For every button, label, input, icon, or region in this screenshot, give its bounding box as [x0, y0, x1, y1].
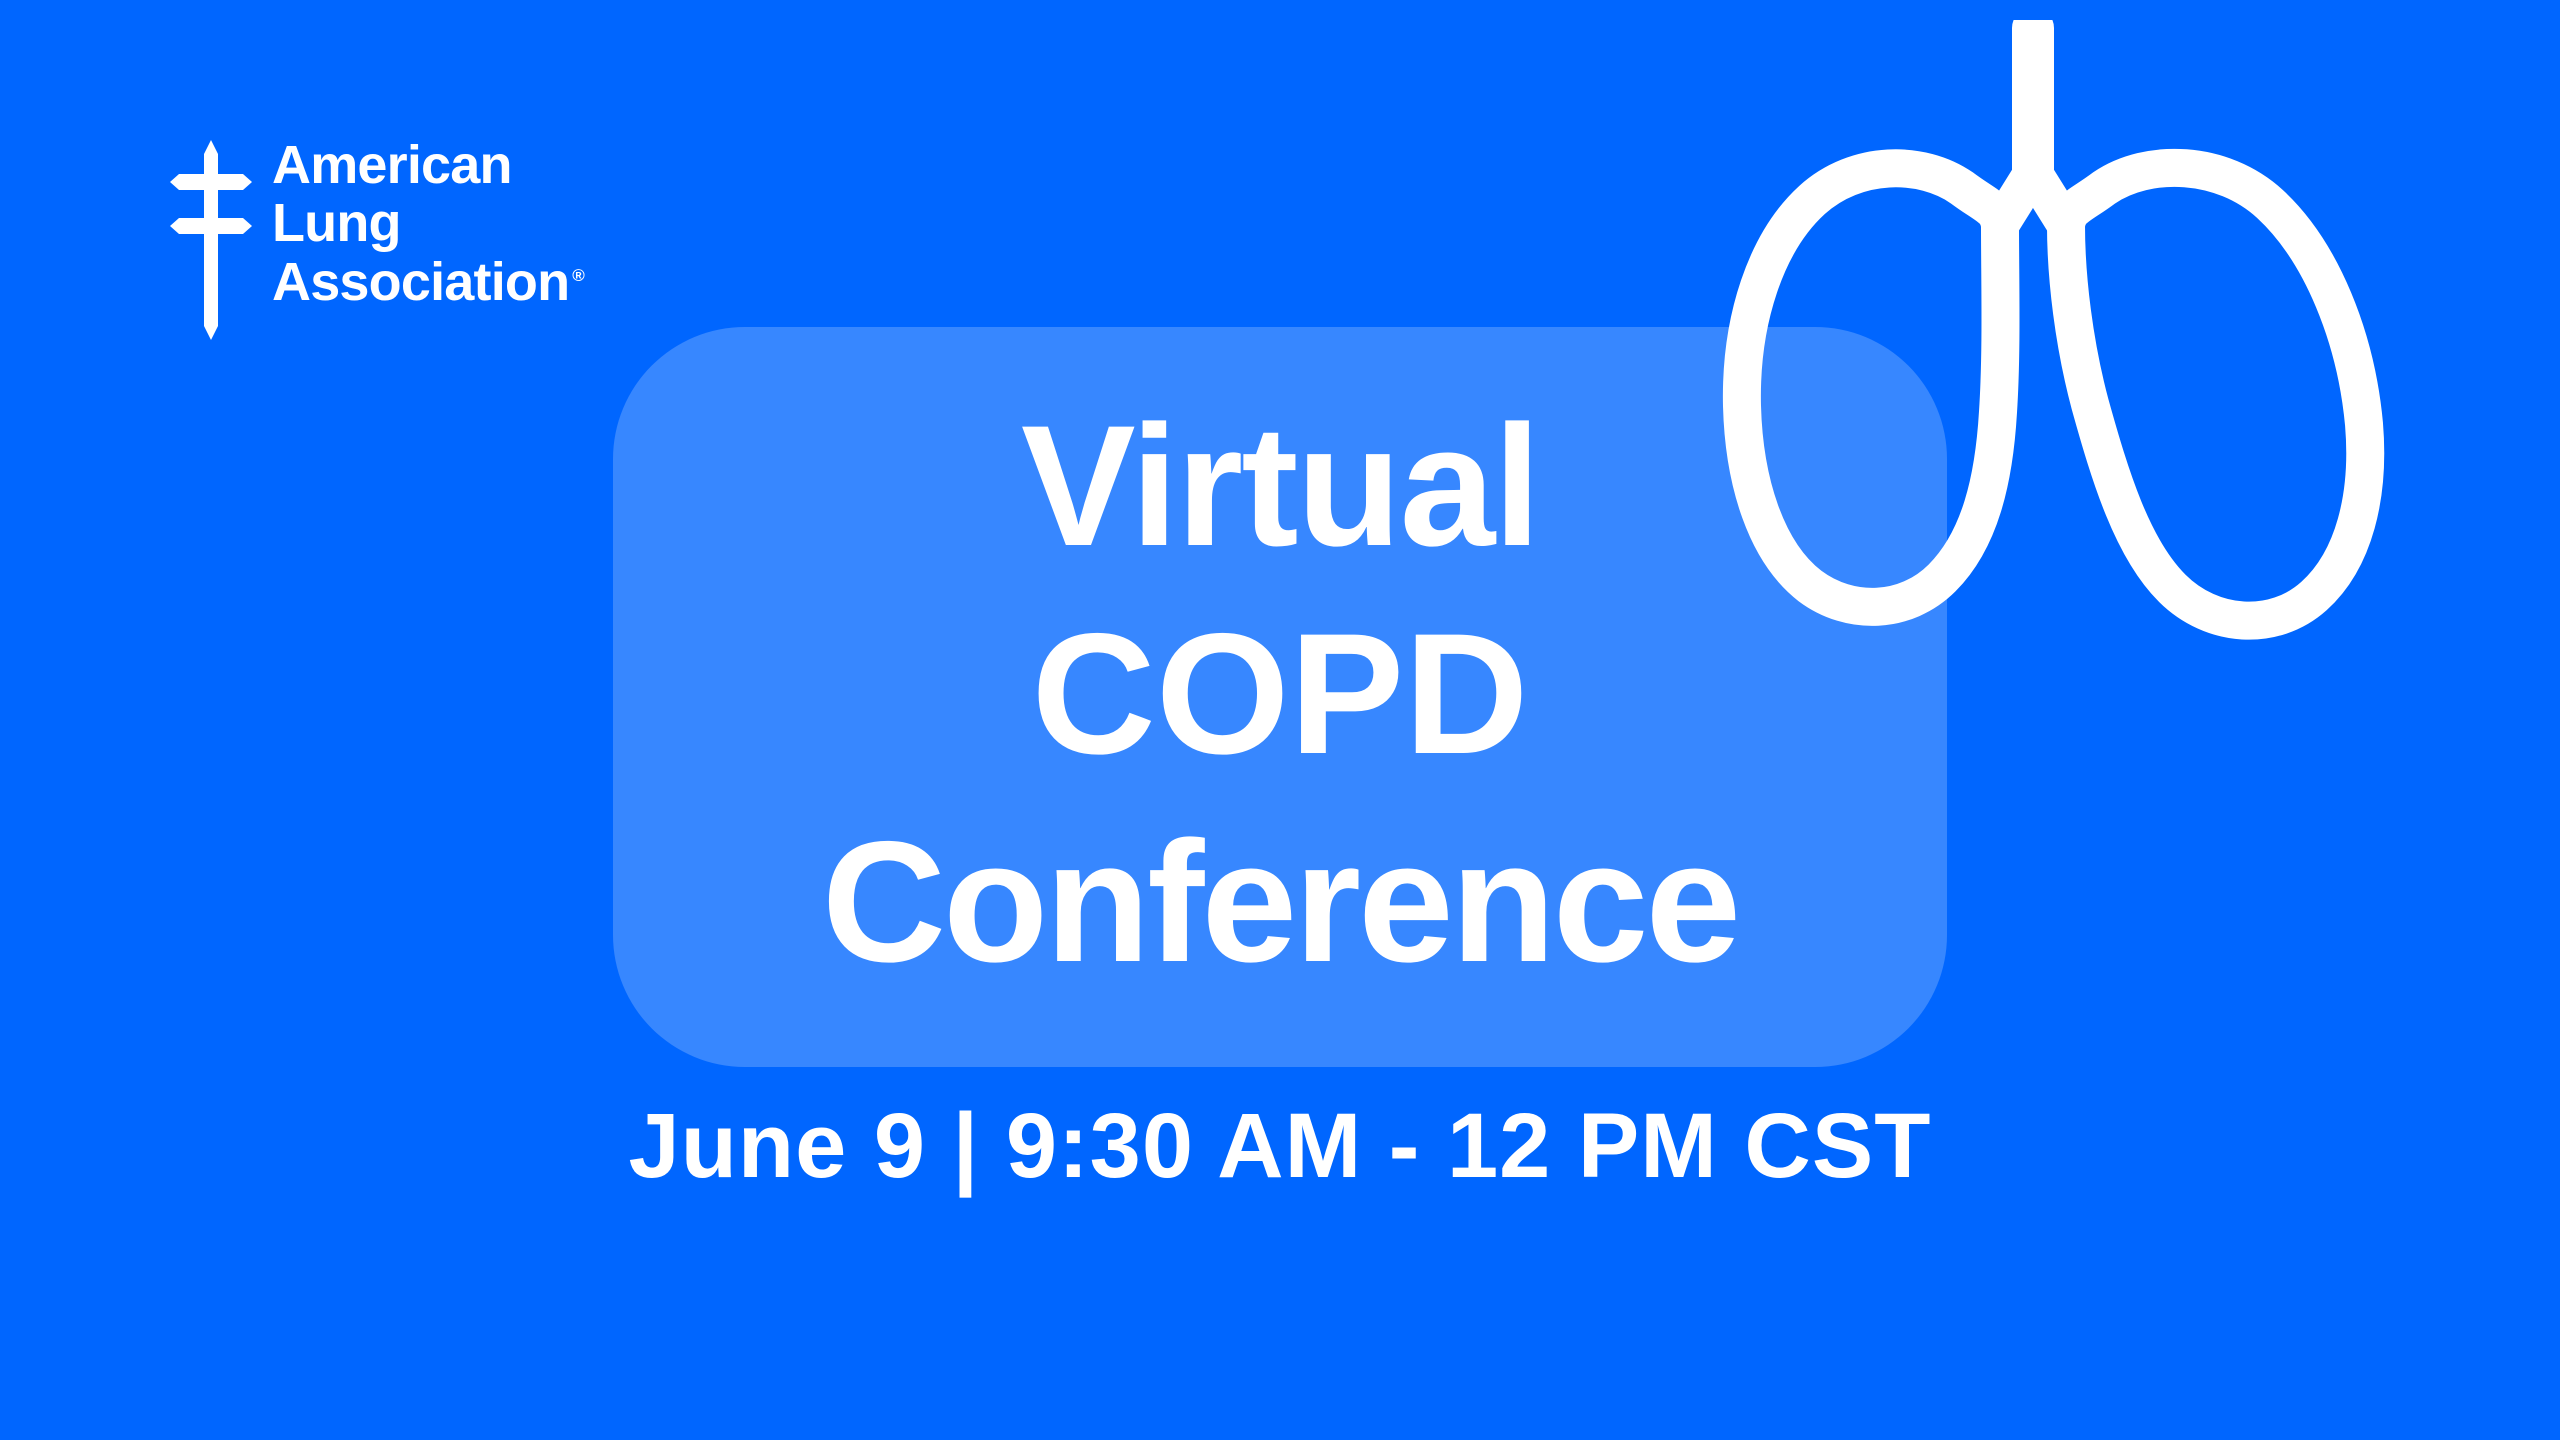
- logo-line-association: Association: [272, 252, 569, 312]
- promo-banner: Virtual COPD Conference June 9 | 9:30 AM…: [0, 0, 2560, 1440]
- double-barred-cross-icon: [170, 140, 252, 340]
- logo-line-american: American: [272, 136, 584, 194]
- american-lung-association-logo[interactable]: American Lung Association®: [170, 140, 584, 340]
- title-backdrop-panel: [613, 327, 1947, 1067]
- logo-line-association-wrap: Association®: [272, 253, 584, 311]
- event-datetime: June 9 | 9:30 AM - 12 PM CST: [0, 1100, 2560, 1192]
- logo-line-lung: Lung: [272, 194, 584, 252]
- registered-trademark-icon: ®: [572, 266, 584, 285]
